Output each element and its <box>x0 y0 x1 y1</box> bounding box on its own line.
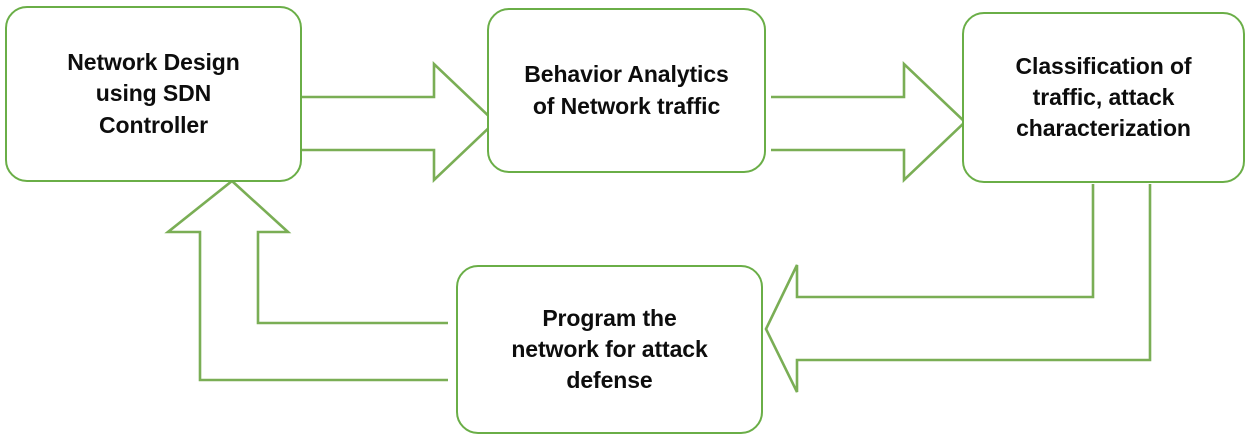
node-program-network[interactable]: Program the network for attack defense <box>456 265 763 434</box>
node-network-design-label: Network Design using SDN Controller <box>53 47 253 141</box>
arrow-design-to-behavior <box>301 64 495 180</box>
node-program-network-label: Program the network for attack defense <box>497 303 721 397</box>
flowchart-diagram: Network Design using SDN Controller Beha… <box>0 0 1250 438</box>
arrow-program-to-design <box>168 181 448 380</box>
node-classification[interactable]: Classification of traffic, attack charac… <box>962 12 1245 183</box>
node-classification-label: Classification of traffic, attack charac… <box>1002 51 1206 145</box>
arrow-behavior-to-classification <box>771 64 965 180</box>
arrow-classification-to-program <box>766 184 1150 392</box>
node-behavior-analytics-label: Behavior Analytics of Network traffic <box>510 59 742 122</box>
node-network-design[interactable]: Network Design using SDN Controller <box>5 6 302 182</box>
node-behavior-analytics[interactable]: Behavior Analytics of Network traffic <box>487 8 766 173</box>
